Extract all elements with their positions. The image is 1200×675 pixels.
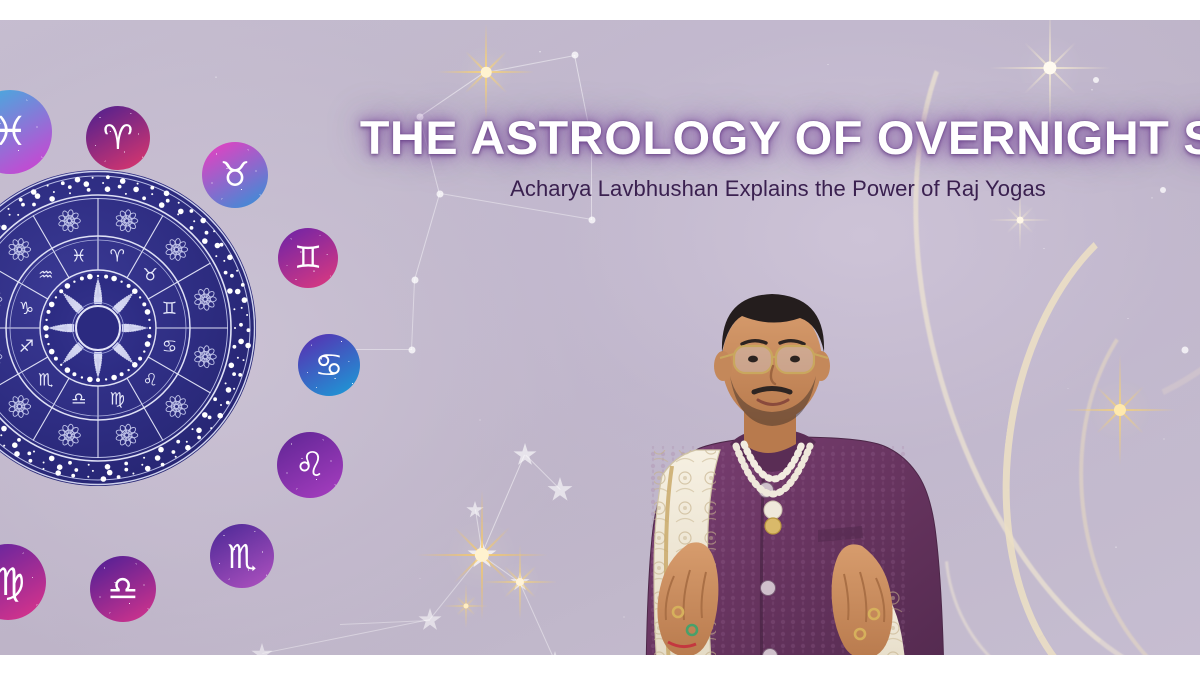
wheel-glyph-taurus: ♉ <box>143 266 158 286</box>
constellation-line <box>481 555 520 583</box>
constellation-node <box>589 217 596 224</box>
wheel-glyph-pisces: ♓ <box>71 247 86 267</box>
constellation-node <box>572 52 579 59</box>
page-subtitle: Acharya Lavbhushan Explains the Power of… <box>372 176 1184 202</box>
zodiac-badge-virgo: ♍ <box>0 544 46 620</box>
constellation-node <box>483 69 490 76</box>
wheel-glyph-scorpio: ♏ <box>38 370 53 390</box>
constellation-line <box>486 55 575 73</box>
constellation-line <box>481 455 525 555</box>
frame-top <box>0 0 1200 20</box>
zodiac-glyph-taurus: ♉ <box>220 158 250 192</box>
zodiac-glyph-scorpio: ♏ <box>227 540 257 573</box>
constellation-line <box>414 194 440 280</box>
zodiac-glyph-cancer: ♋ <box>315 349 344 381</box>
constellation-line <box>429 554 482 620</box>
frame-bottom <box>0 655 1200 675</box>
zodiac-badge-pisces: ♓ <box>0 90 52 174</box>
zodiac-glyph-virgo: ♍ <box>0 563 25 601</box>
zodiac-glyph-gemini: ♊ <box>294 243 322 274</box>
constellation-line <box>525 454 561 490</box>
constellation-line <box>475 510 483 555</box>
constellation-node <box>412 277 419 284</box>
constellation-node <box>1182 347 1189 354</box>
wheel-glyph-capricorn: ♑ <box>19 299 34 319</box>
headline-block: THE ASTROLOGY OF OVERNIGHT SUCCESS Achar… <box>372 110 1184 202</box>
zodiac-badge-taurus: ♉ <box>202 142 268 208</box>
zodiac-badge-libra: ♎ <box>90 556 156 622</box>
wheel-glyph-aries: ♈ <box>110 247 125 267</box>
wheel-glyph-libra: ♎ <box>71 390 86 410</box>
zodiac-badge-scorpio: ♏ <box>210 524 274 588</box>
wheel-glyph-cancer: ♋ <box>162 337 177 357</box>
constellation-line <box>519 582 555 655</box>
zodiac-glyph-aries: ♈ <box>103 121 133 155</box>
page-title: THE ASTROLOGY OF OVERNIGHT SUCCESS <box>360 110 1196 165</box>
zodiac-badge-cancer: ♋ <box>298 334 360 396</box>
constellation-node <box>1093 77 1099 83</box>
zodiac-glyph-libra: ♎ <box>108 572 138 606</box>
constellation-node <box>409 347 416 354</box>
zodiac-badge-aries: ♈ <box>86 106 150 170</box>
wheel-glyph-gemini: ♊ <box>162 299 177 319</box>
wheel-glyph-sagittarius: ♐ <box>19 337 34 357</box>
astrology-banner: ♈♉♊♋♌♍♎♏♐♑♒♓ ♓♈♉♊♋♌♏♎♍ <box>0 20 1200 655</box>
wheel-glyph-aquarius: ♒ <box>38 266 53 286</box>
zodiac-glyph-pisces: ♓ <box>0 112 28 152</box>
wheel-glyph-virgo: ♍ <box>110 390 125 410</box>
zodiac-badge-leo: ♌ <box>277 432 343 498</box>
zodiac-wheel: ♈♉♊♋♌♍♎♏♐♑♒♓ <box>0 168 258 488</box>
constellation-line <box>411 280 415 350</box>
zodiac-badge-gemini: ♊ <box>278 228 338 288</box>
person-acharya-lavbhushan <box>568 258 978 655</box>
wheel-glyph-leo: ♌ <box>143 370 158 390</box>
zodiac-glyph-leo: ♌ <box>295 448 325 482</box>
